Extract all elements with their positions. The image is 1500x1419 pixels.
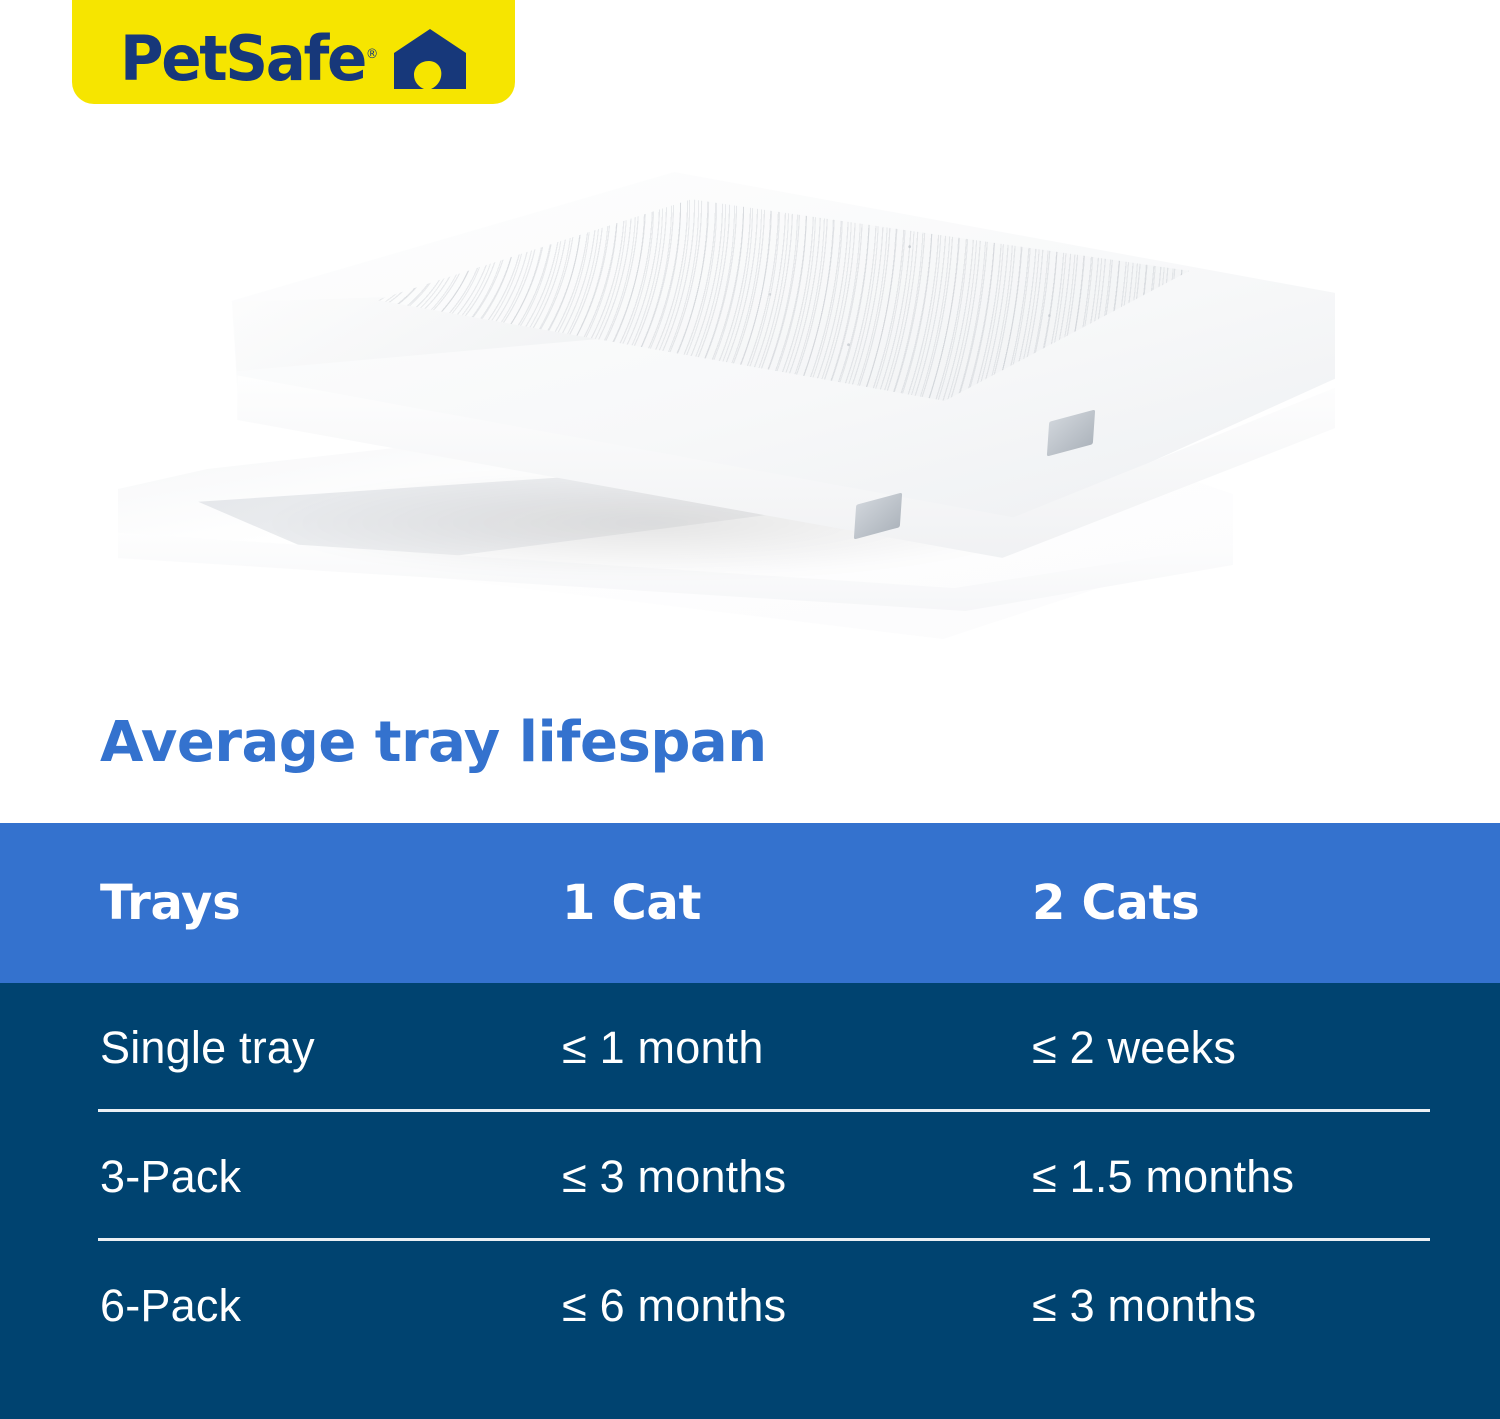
table-row: Single tray ≤ 1 month ≤ 2 weeks — [0, 983, 1500, 1112]
average-tray-lifespan-table: Trays 1 Cat 2 Cats Single tray ≤ 1 month… — [0, 823, 1500, 1419]
cell-two-cats: ≤ 3 months — [1032, 1280, 1500, 1332]
product-infographic-page: PetSafe® Average tra — [0, 0, 1500, 1419]
cell-one-cat: ≤ 6 months — [562, 1280, 1032, 1332]
brand-wordmark: PetSafe® — [120, 28, 376, 90]
registered-trademark-icon: ® — [366, 47, 376, 62]
cell-one-cat: ≤ 1 month — [562, 1022, 1032, 1074]
cell-trays: Single tray — [0, 1022, 562, 1074]
table-row: 3-Pack ≤ 3 months ≤ 1.5 months — [0, 1112, 1500, 1241]
column-header-one-cat: 1 Cat — [562, 875, 1032, 931]
cell-trays: 6-Pack — [0, 1280, 562, 1332]
column-header-two-cats: 2 Cats — [1032, 875, 1500, 931]
table-body: Single tray ≤ 1 month ≤ 2 weeks 3-Pack ≤… — [0, 983, 1500, 1419]
table-header-row: Trays 1 Cat 2 Cats — [0, 823, 1500, 983]
section-heading: Average tray lifespan — [100, 714, 767, 773]
filled-litter-tray — [215, 172, 1335, 562]
logo-inner: PetSafe® — [120, 28, 467, 90]
column-header-trays: Trays — [0, 875, 562, 931]
brand-name-text: PetSafe — [120, 22, 365, 95]
cell-trays: 3-Pack — [0, 1151, 562, 1203]
table-row: 6-Pack ≤ 6 months ≤ 3 months — [0, 1241, 1500, 1370]
cell-one-cat: ≤ 3 months — [562, 1151, 1032, 1203]
product-photo — [0, 104, 1500, 694]
cell-two-cats: ≤ 1.5 months — [1032, 1151, 1500, 1203]
cell-two-cats: ≤ 2 weeks — [1032, 1022, 1500, 1074]
house-with-pet-icon — [393, 28, 467, 90]
photo-stage — [0, 104, 1500, 694]
petsafe-logo-badge: PetSafe® — [72, 0, 515, 104]
